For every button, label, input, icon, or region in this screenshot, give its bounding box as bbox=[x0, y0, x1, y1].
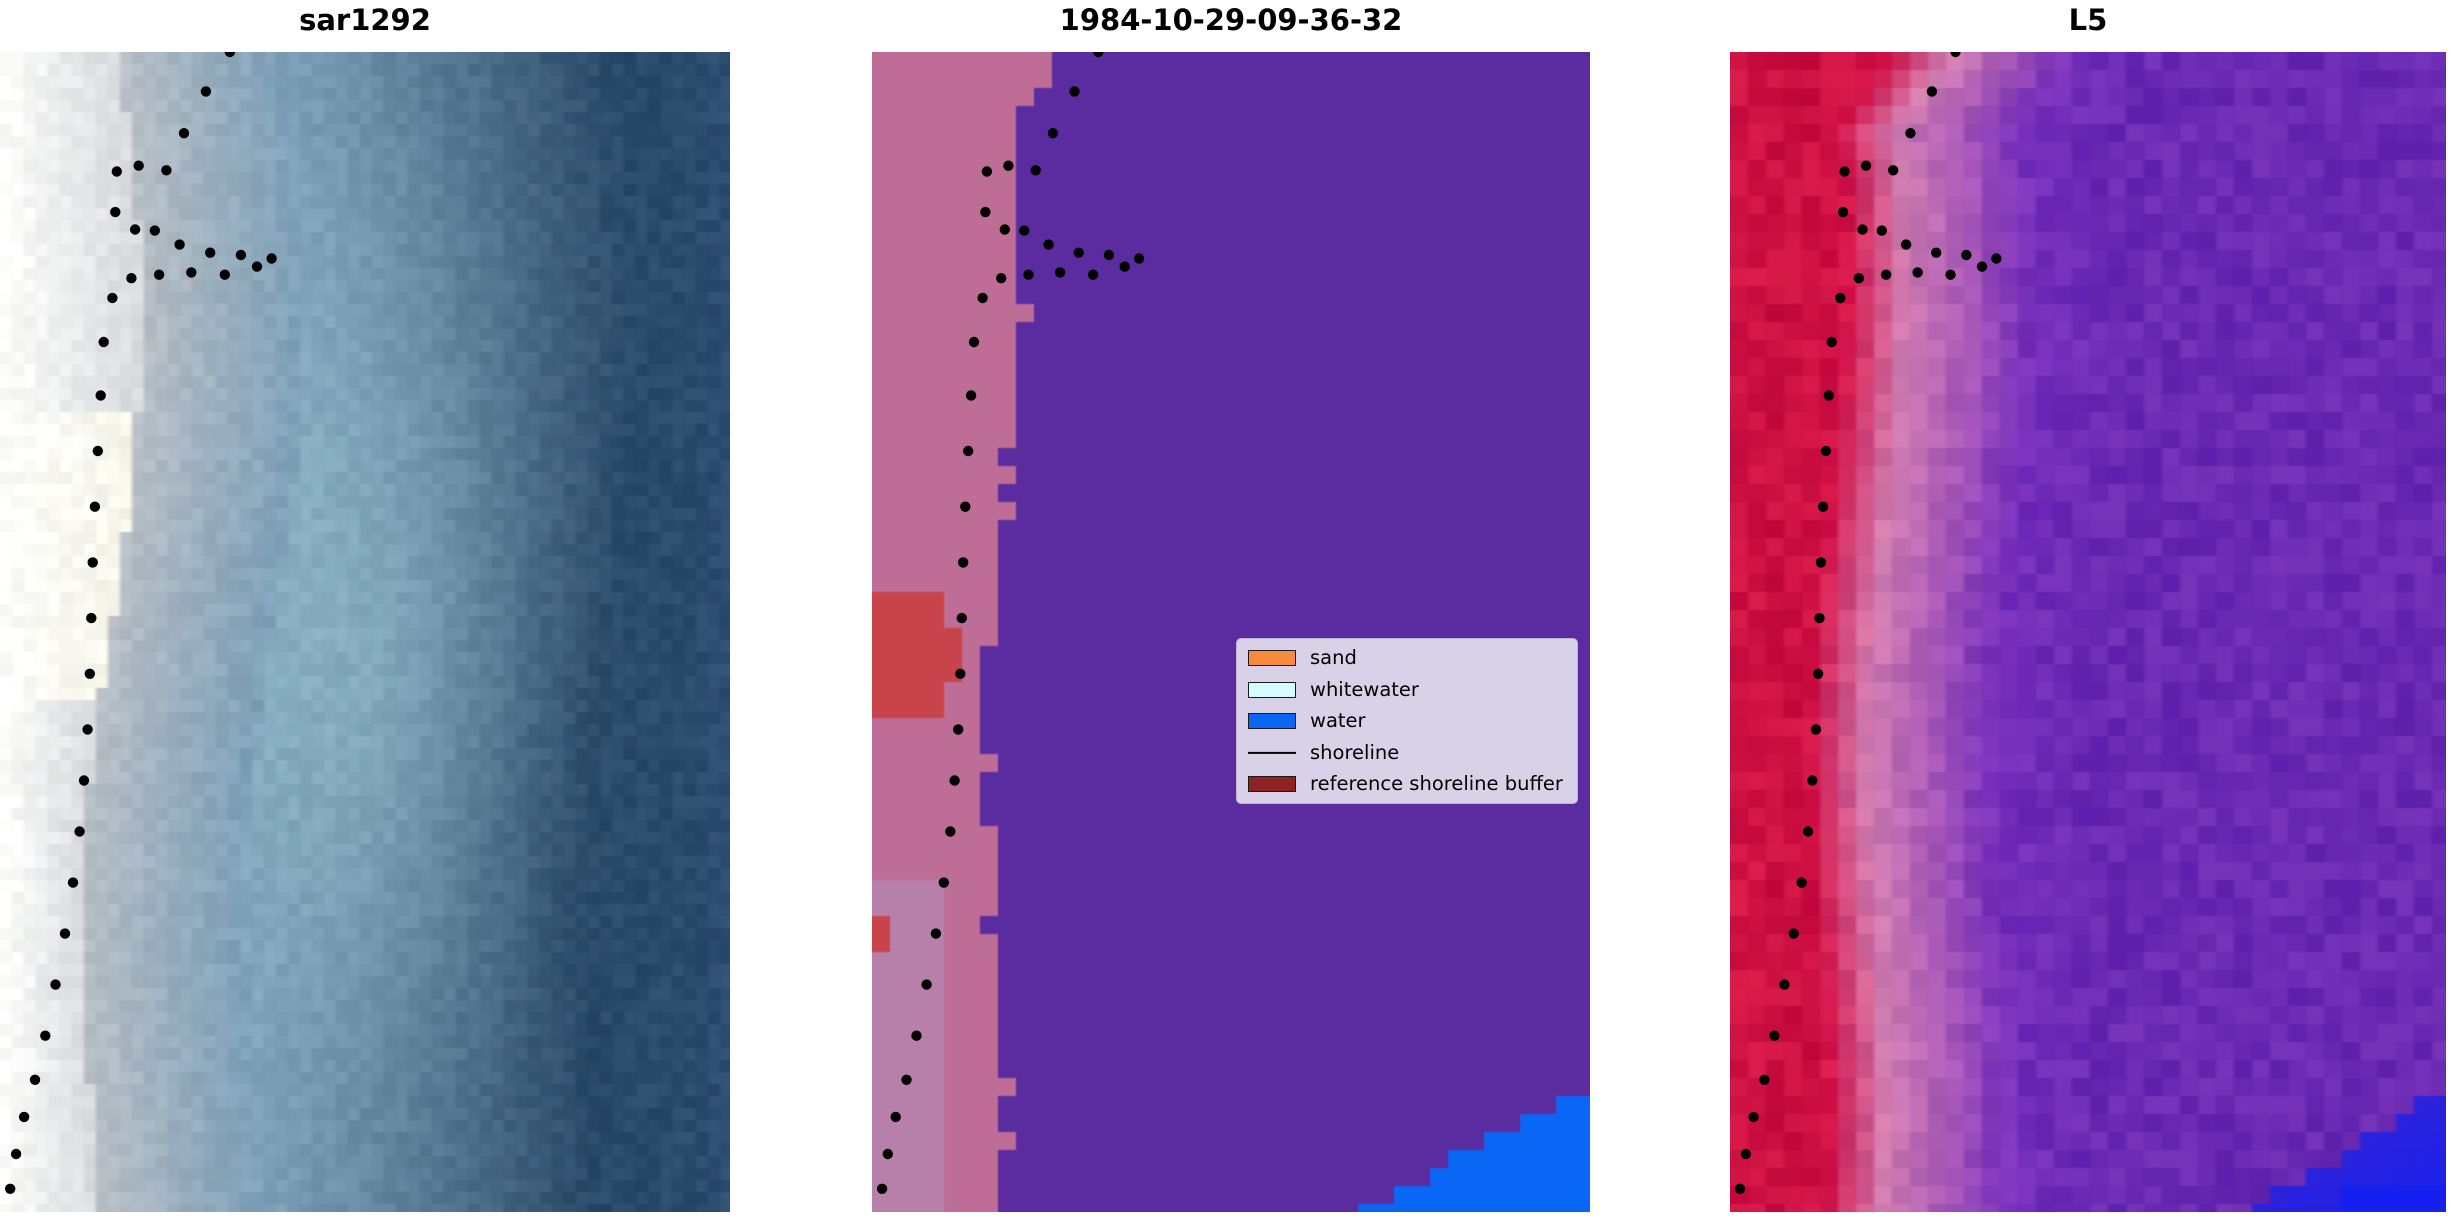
legend-row[interactable]: whitewater bbox=[1248, 680, 1566, 700]
legend-label: whitewater bbox=[1310, 680, 1419, 700]
panel-title-l5: L5 bbox=[1730, 3, 2446, 37]
legend-label: sand bbox=[1310, 648, 1357, 668]
legend-row[interactable]: sand bbox=[1248, 648, 1566, 668]
legend-swatch-water bbox=[1248, 713, 1296, 729]
legend-swatch-whitewater bbox=[1248, 682, 1296, 698]
legend-row[interactable]: reference shoreline buffer bbox=[1248, 774, 1566, 794]
shoreline-dots-classification bbox=[877, 52, 1144, 1194]
legend-label: shoreline bbox=[1310, 743, 1399, 763]
legend[interactable]: sandwhitewaterwatershorelinereference sh… bbox=[1236, 638, 1578, 804]
legend-label: reference shoreline buffer bbox=[1310, 774, 1563, 794]
legend-swatch-shoreline bbox=[1248, 745, 1296, 761]
l5-shoreline-overlay bbox=[1730, 52, 2446, 1212]
panel-classification[interactable] bbox=[872, 52, 1590, 1212]
legend-label: water bbox=[1310, 711, 1366, 731]
panel-l5[interactable] bbox=[1730, 52, 2446, 1212]
panel-sar[interactable] bbox=[0, 52, 730, 1212]
classification-shoreline-overlay bbox=[872, 52, 1590, 1212]
sar-shoreline-overlay bbox=[0, 52, 730, 1212]
legend-swatch-reference-shoreline-buffer bbox=[1248, 776, 1296, 792]
legend-swatch-sand bbox=[1248, 650, 1296, 666]
shoreline-dots-sar bbox=[5, 52, 277, 1194]
panel-title-classification: 1984-10-29-09-36-32 bbox=[872, 3, 1590, 37]
shoreline-dots-l5 bbox=[1735, 52, 2002, 1194]
figure-canvas: sar1292 1984-10-29-09-36-32 L5 sandwhite… bbox=[0, 0, 2460, 1229]
legend-row[interactable]: water bbox=[1248, 711, 1566, 731]
legend-row[interactable]: shoreline bbox=[1248, 743, 1566, 763]
panel-title-sar: sar1292 bbox=[0, 3, 730, 37]
